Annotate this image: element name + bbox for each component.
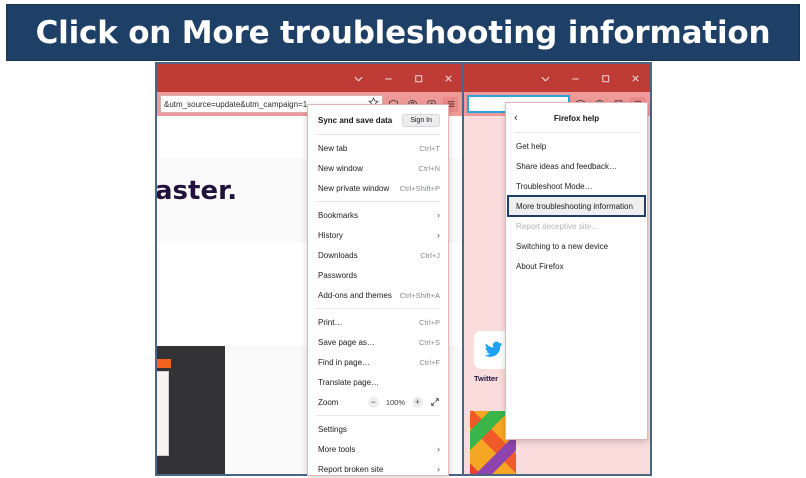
menu-item-label: More tools bbox=[318, 445, 437, 454]
sync-label: Sync and save data bbox=[318, 116, 392, 125]
close-button-right[interactable] bbox=[620, 64, 650, 92]
minimize-button-right[interactable] bbox=[560, 64, 590, 92]
menu-item-more-tools[interactable]: More tools › bbox=[308, 439, 448, 459]
zoom-in-button[interactable]: + bbox=[412, 397, 423, 408]
menu-item-bookmarks[interactable]: Bookmarks › bbox=[308, 205, 448, 225]
menu-separator bbox=[316, 201, 440, 202]
zoom-row: Zoom − 100% + bbox=[308, 392, 448, 412]
menu-separator bbox=[316, 134, 440, 135]
menu-item-label: Report deceptive site… bbox=[516, 222, 639, 231]
menu-item-label: Find in page… bbox=[318, 358, 413, 367]
menu-item-label: About Firefox bbox=[516, 262, 639, 271]
maximize-button-left[interactable] bbox=[403, 64, 433, 92]
submenu-item-get-help[interactable]: Get help bbox=[506, 136, 647, 156]
close-button-left[interactable] bbox=[433, 64, 463, 92]
menu-item-label: Save page as… bbox=[318, 338, 413, 347]
menu-item-label: Bookmarks bbox=[318, 211, 437, 220]
menu-item-label: Passwords bbox=[318, 271, 434, 280]
menu-item-label: Print… bbox=[318, 318, 413, 327]
menu-item-settings[interactable]: Settings bbox=[308, 419, 448, 439]
orange-accent-chip bbox=[157, 359, 171, 368]
menu-item-translate-page[interactable]: Translate page… bbox=[308, 372, 448, 392]
submenu-item-report-deceptive-site: Report deceptive site… bbox=[506, 216, 647, 236]
submenu-item-more-troubleshooting-information[interactable]: More troubleshooting information bbox=[508, 196, 645, 216]
sign-in-button[interactable]: Sign In bbox=[402, 114, 440, 127]
menu-item-label: New window bbox=[318, 164, 413, 173]
chevron-right-icon: › bbox=[437, 211, 440, 220]
instruction-banner-text: Click on More troubleshooting informatio… bbox=[36, 15, 771, 51]
twitter-bird-icon bbox=[483, 340, 504, 361]
menu-item-print[interactable]: Print… Ctrl+P bbox=[308, 312, 448, 332]
menu-item-label: Report broken site bbox=[318, 465, 437, 474]
firefox-help-submenu: ‹ Firefox help Get help Share ideas and … bbox=[505, 102, 648, 440]
menu-item-downloads[interactable]: Downloads Ctrl+J bbox=[308, 245, 448, 265]
menu-item-new-window[interactable]: New window Ctrl+N bbox=[308, 158, 448, 178]
menu-separator bbox=[514, 132, 639, 133]
menu-item-label: Switching to a new device bbox=[516, 242, 639, 251]
menu-item-accel: Ctrl+Shift+P bbox=[394, 184, 440, 193]
menu-item-accel: Ctrl+T bbox=[413, 144, 440, 153]
white-card bbox=[155, 371, 169, 456]
menu-item-accel: Ctrl+F bbox=[413, 358, 440, 367]
menu-item-history[interactable]: History › bbox=[308, 225, 448, 245]
submenu-header: ‹ Firefox help bbox=[506, 107, 647, 129]
menu-item-new-private-window[interactable]: New private window Ctrl+Shift+P bbox=[308, 178, 448, 198]
minimize-button-left[interactable] bbox=[373, 64, 403, 92]
expand-icon[interactable] bbox=[430, 397, 440, 407]
menu-item-label: Share ideas and feedback… bbox=[516, 162, 639, 171]
zoom-out-button[interactable]: − bbox=[368, 397, 379, 408]
menu-item-label: History bbox=[318, 231, 437, 240]
tab-list-chevron-down-icon[interactable] bbox=[343, 64, 373, 92]
menu-item-accel: Ctrl+Shift+A bbox=[394, 291, 440, 300]
chevron-right-icon: › bbox=[437, 231, 440, 240]
menu-item-label: Settings bbox=[318, 425, 440, 434]
menu-item-label: New tab bbox=[318, 144, 413, 153]
submenu-item-about-firefox[interactable]: About Firefox bbox=[506, 256, 647, 276]
menu-item-accel: Ctrl+J bbox=[414, 251, 440, 260]
firefox-main-menu: Sync and save data Sign In New tab Ctrl+… bbox=[307, 104, 449, 476]
zoom-level-value: 100% bbox=[386, 398, 405, 407]
menu-item-accel: Ctrl+P bbox=[413, 318, 440, 327]
menu-item-label: Troubleshoot Mode… bbox=[516, 182, 639, 191]
submenu-item-share-ideas-and-feedback[interactable]: Share ideas and feedback… bbox=[506, 156, 647, 176]
menu-item-label: Add-ons and themes bbox=[318, 291, 394, 300]
menu-item-find-in-page[interactable]: Find in page… Ctrl+F bbox=[308, 352, 448, 372]
menu-item-label: New private window bbox=[318, 184, 394, 193]
chevron-right-icon: › bbox=[437, 465, 440, 474]
zoom-controls: − 100% + bbox=[368, 397, 440, 408]
screenshot-root: Click on More troubleshooting informatio… bbox=[0, 0, 806, 478]
menu-item-label: Get help bbox=[516, 142, 639, 151]
menu-item-label: More troubleshooting information bbox=[516, 202, 637, 211]
menu-item-save-page-as[interactable]: Save page as… Ctrl+S bbox=[308, 332, 448, 352]
submenu-item-troubleshoot-mode[interactable]: Troubleshoot Mode… bbox=[506, 176, 647, 196]
tab-list-chevron-down-icon-right[interactable] bbox=[530, 64, 560, 92]
zoom-label: Zoom bbox=[318, 398, 368, 407]
menu-item-new-tab[interactable]: New tab Ctrl+T bbox=[308, 138, 448, 158]
chevron-right-icon: › bbox=[437, 445, 440, 454]
chevron-left-icon[interactable]: ‹ bbox=[514, 113, 528, 124]
menu-item-accel: Ctrl+S bbox=[413, 338, 440, 347]
right-titlebar bbox=[464, 64, 650, 92]
menu-item-label: Translate page… bbox=[318, 378, 434, 387]
menu-item-passwords[interactable]: Passwords bbox=[308, 265, 448, 285]
menu-separator bbox=[316, 308, 440, 309]
sync-and-save-row[interactable]: Sync and save data Sign In bbox=[308, 109, 448, 131]
menu-item-addons-and-themes[interactable]: Add-ons and themes Ctrl+Shift+A bbox=[308, 285, 448, 305]
menu-item-report-broken-site[interactable]: Report broken site › bbox=[308, 459, 448, 478]
page-headline-fragment: aster. bbox=[155, 176, 237, 206]
menu-item-accel: Ctrl+N bbox=[413, 164, 440, 173]
submenu-item-switching-to-a-new-device[interactable]: Switching to a new device bbox=[506, 236, 647, 256]
instruction-banner: Click on More troubleshooting informatio… bbox=[6, 4, 800, 61]
left-titlebar bbox=[157, 64, 463, 92]
menu-item-label: Downloads bbox=[318, 251, 414, 260]
menu-separator bbox=[316, 415, 440, 416]
maximize-button-right[interactable] bbox=[590, 64, 620, 92]
